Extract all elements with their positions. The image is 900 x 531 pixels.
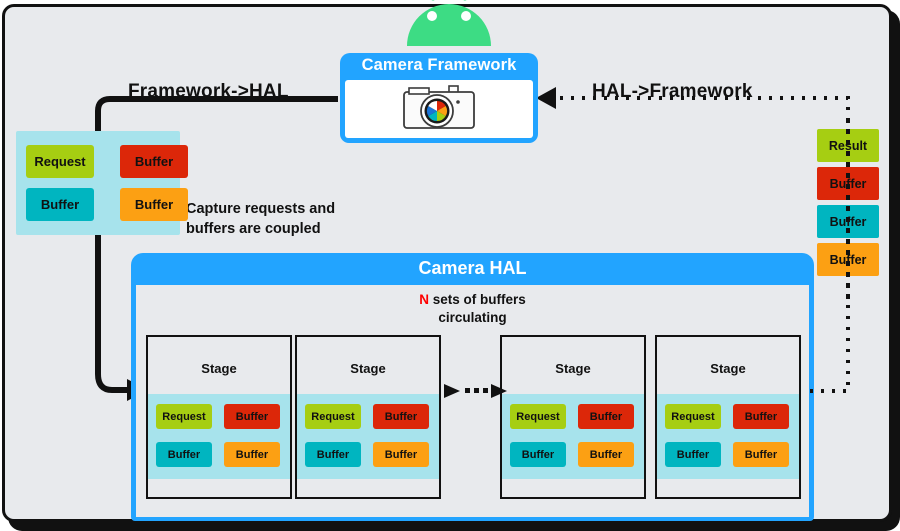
stage-name: Stage	[350, 361, 385, 376]
stage2-chip-buffer-2: Buffer	[305, 442, 361, 467]
coupling-caption: Capture requests and buffers are coupled	[186, 199, 335, 239]
note-accent-n: N	[419, 292, 429, 307]
camera-framework-box[interactable]: Camera Framework	[340, 53, 538, 143]
stage4-chip-buffer-3: Buffer	[733, 442, 789, 467]
stage-name: Stage	[555, 361, 590, 376]
camera-framework-body	[345, 80, 533, 138]
stage-name: Stage	[201, 361, 236, 376]
stage4-chip-buffer-2: Buffer	[665, 442, 721, 467]
stage-chip-cluster: RequestBufferBufferBuffer	[148, 394, 290, 479]
result-buffer-cluster: ResultBufferBufferBuffer	[817, 129, 879, 277]
stage3-chip-buffer-2: Buffer	[510, 442, 566, 467]
camera-icon	[402, 82, 476, 137]
result-chip-result-0: Result	[817, 129, 879, 162]
android-robot-head-icon	[401, 0, 497, 46]
stage3-chip-buffer-1: Buffer	[578, 404, 634, 429]
stage1-chip-buffer-2: Buffer	[156, 442, 212, 467]
stage4-chip-buffer-1: Buffer	[733, 404, 789, 429]
stage3-chip-buffer-3: Buffer	[578, 442, 634, 467]
stage-chip-cluster: RequestBufferBufferBuffer	[657, 394, 799, 479]
stage1-chip-buffer-1: Buffer	[224, 404, 280, 429]
note-text-rest: sets of buffers	[429, 292, 526, 307]
coupled-request-buffer-cluster: RequestBufferBufferBuffer	[16, 131, 180, 235]
stage2-chip-request-0: Request	[305, 404, 361, 429]
coupled-chip-buffer-1: Buffer	[120, 145, 188, 178]
stage-card-2[interactable]: Stage 2 RequestBufferBufferBuffer	[295, 335, 441, 499]
result-chip-buffer-3: Buffer	[817, 243, 879, 276]
camera-hal-title: Camera HAL	[131, 253, 814, 283]
buffer-circulation-note: N sets of buffers circulating	[136, 291, 809, 327]
stage4-chip-request-0: Request	[665, 404, 721, 429]
result-chip-buffer-1: Buffer	[817, 167, 879, 200]
coupled-chip-buffer-2: Buffer	[26, 188, 94, 221]
stage-card-1[interactable]: Stage 1 RequestBufferBufferBuffer	[146, 335, 292, 499]
stage2-chip-buffer-3: Buffer	[373, 442, 429, 467]
result-chip-buffer-2: Buffer	[817, 205, 879, 238]
stage1-chip-request-0: Request	[156, 404, 212, 429]
coupled-chip-buffer-3: Buffer	[120, 188, 188, 221]
stage1-chip-buffer-3: Buffer	[224, 442, 280, 467]
stage-chip-cluster: RequestBufferBufferBuffer	[502, 394, 644, 479]
label-framework-to-hal: Framework->HAL	[128, 81, 289, 103]
stage-card-n[interactable]: Stage N RequestBufferBufferBuffer	[655, 335, 801, 499]
coupled-chip-request-0: Request	[26, 145, 94, 178]
stage3-chip-request-0: Request	[510, 404, 566, 429]
camera-framework-title: Camera Framework	[340, 53, 538, 78]
stage-card-n-minus-1[interactable]: Stage N-1 RequestBufferBufferBuffer	[500, 335, 646, 499]
stage2-chip-buffer-1: Buffer	[373, 404, 429, 429]
diagram-canvas: Camera Framework	[0, 0, 900, 531]
stage-chip-cluster: RequestBufferBufferBuffer	[297, 394, 439, 479]
note-text-line2: circulating	[438, 310, 506, 325]
label-hal-to-framework: HAL->Framework	[592, 81, 753, 103]
stage-name: Stage	[710, 361, 745, 376]
